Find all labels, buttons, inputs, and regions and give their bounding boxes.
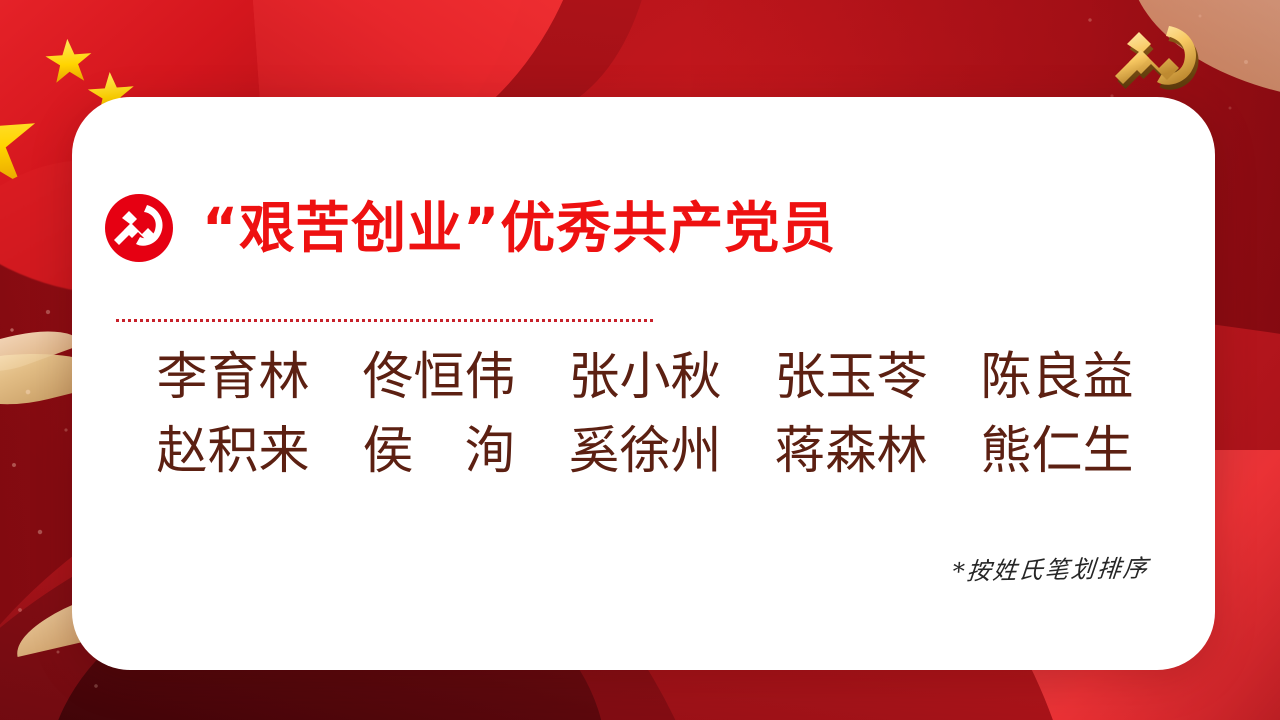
honoree-name-grid: 李育林 佟恒伟 张小秋 张玉苓 陈良益 赵积来 侯 洵 奚徐州 蒋森林 熊仁生: [130, 349, 1160, 481]
dotted-divider: [116, 319, 653, 322]
content-card: “艰苦创业”优秀共产党员 李育林 佟恒伟 张小秋 张玉苓 陈良益 赵积来 侯 洵…: [72, 97, 1215, 670]
page-title: “艰苦创业”优秀共产党员: [202, 201, 836, 256]
party-emblem-hammer-sickle-icon: [104, 193, 174, 263]
honoree-name: 奚徐州: [542, 423, 748, 481]
honoree-name: 陈良益: [954, 349, 1160, 407]
honoree-name: 熊仁生: [954, 423, 1160, 481]
honoree-name: 佟恒伟: [336, 349, 542, 407]
honoree-name: 蒋森林: [748, 423, 954, 481]
slide-header: “艰苦创业”优秀共产党员: [104, 193, 836, 263]
gold-party-emblem-icon: [1104, 14, 1222, 106]
honoree-name: 李育林: [130, 349, 336, 407]
honoree-name: 侯 洵: [336, 423, 542, 481]
slide-root: “艰苦创业”优秀共产党员 李育林 佟恒伟 张小秋 张玉苓 陈良益 赵积来 侯 洵…: [0, 0, 1280, 720]
sort-order-footnote: *按姓氏笔划排序: [951, 548, 1150, 586]
honoree-name: 张玉苓: [748, 349, 954, 407]
honoree-name: 张小秋: [542, 349, 748, 407]
honoree-name: 赵积来: [130, 423, 336, 481]
